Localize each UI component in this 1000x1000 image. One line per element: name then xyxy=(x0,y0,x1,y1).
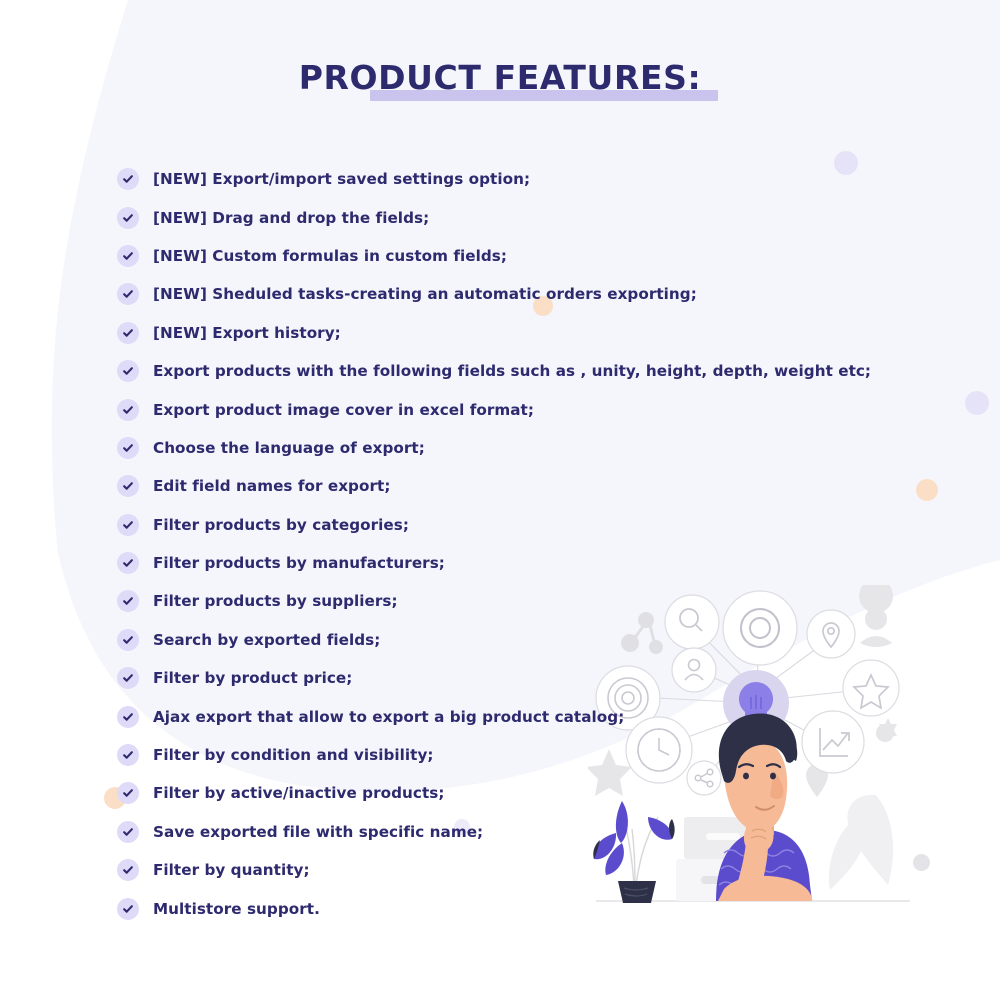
feature-row: Edit field names for export; xyxy=(117,467,917,505)
feature-row: Filter by product price; xyxy=(117,659,917,697)
feature-label: Choose the language of export; xyxy=(153,439,425,457)
feature-label: Multistore support. xyxy=(153,900,320,918)
feature-label: Filter products by categories; xyxy=(153,516,409,534)
check-icon xyxy=(117,859,139,881)
feature-label: Filter by active/inactive products; xyxy=(153,784,444,802)
check-icon xyxy=(117,207,139,229)
feature-list: [NEW] Export/import saved settings optio… xyxy=(117,160,917,928)
check-icon xyxy=(117,629,139,651)
feature-label: Ajax export that allow to export a big p… xyxy=(153,708,624,726)
feature-label: Filter products by suppliers; xyxy=(153,592,398,610)
check-icon xyxy=(117,399,139,421)
check-icon xyxy=(117,168,139,190)
check-icon xyxy=(117,437,139,459)
feature-row: Ajax export that allow to export a big p… xyxy=(117,697,917,735)
check-icon xyxy=(117,514,139,536)
feature-row: Choose the language of export; xyxy=(117,429,917,467)
check-icon xyxy=(117,322,139,344)
feature-row: Export products with the following field… xyxy=(117,352,917,390)
check-icon xyxy=(117,821,139,843)
feature-row: Filter products by categories; xyxy=(117,506,917,544)
peach-dot-right xyxy=(916,479,938,501)
check-icon xyxy=(117,552,139,574)
check-icon xyxy=(117,898,139,920)
feature-label: Search by exported fields; xyxy=(153,631,380,649)
feature-row: Filter by active/inactive products; xyxy=(117,774,917,812)
feature-row: Filter by quantity; xyxy=(117,851,917,889)
feature-row: [NEW] Sheduled tasks-creating an automat… xyxy=(117,275,917,313)
feature-label: Edit field names for export; xyxy=(153,477,390,495)
feature-label: Filter by product price; xyxy=(153,669,352,687)
feature-row: Export product image cover in excel form… xyxy=(117,390,917,428)
feature-label: Save exported file with specific name; xyxy=(153,823,483,841)
feature-label: [NEW] Export history; xyxy=(153,324,341,342)
feature-row: Save exported file with specific name; xyxy=(117,813,917,851)
feature-row: [NEW] Custom formulas in custom fields; xyxy=(117,237,917,275)
feature-row: Multistore support. xyxy=(117,889,917,927)
feature-row: [NEW] Drag and drop the fields; xyxy=(117,198,917,236)
feature-label: Export product image cover in excel form… xyxy=(153,401,534,419)
lavender-dot-right xyxy=(965,391,989,415)
check-icon xyxy=(117,283,139,305)
feature-row: Search by exported fields; xyxy=(117,621,917,659)
feature-label: Filter products by manufacturers; xyxy=(153,554,445,572)
check-icon xyxy=(117,475,139,497)
check-icon xyxy=(117,744,139,766)
check-icon xyxy=(117,782,139,804)
check-icon xyxy=(117,245,139,267)
feature-row: Filter by condition and visibility; xyxy=(117,736,917,774)
feature-row: [NEW] Export/import saved settings optio… xyxy=(117,160,917,198)
feature-label: [NEW] Export/import saved settings optio… xyxy=(153,170,530,188)
title-block: PRODUCT FEATURES: xyxy=(0,58,1000,97)
feature-label: [NEW] Sheduled tasks-creating an automat… xyxy=(153,285,697,303)
feature-row: Filter products by suppliers; xyxy=(117,582,917,620)
check-icon xyxy=(117,590,139,612)
feature-label: Filter by quantity; xyxy=(153,861,310,879)
feature-row: Filter products by manufacturers; xyxy=(117,544,917,582)
page-title: PRODUCT FEATURES: xyxy=(299,58,702,97)
feature-row: [NEW] Export history; xyxy=(117,314,917,352)
feature-label: [NEW] Drag and drop the fields; xyxy=(153,209,429,227)
check-icon xyxy=(117,360,139,382)
feature-label: Export products with the following field… xyxy=(153,362,871,380)
feature-label: Filter by condition and visibility; xyxy=(153,746,434,764)
feature-label: [NEW] Custom formulas in custom fields; xyxy=(153,247,507,265)
check-icon xyxy=(117,667,139,689)
check-icon xyxy=(117,706,139,728)
